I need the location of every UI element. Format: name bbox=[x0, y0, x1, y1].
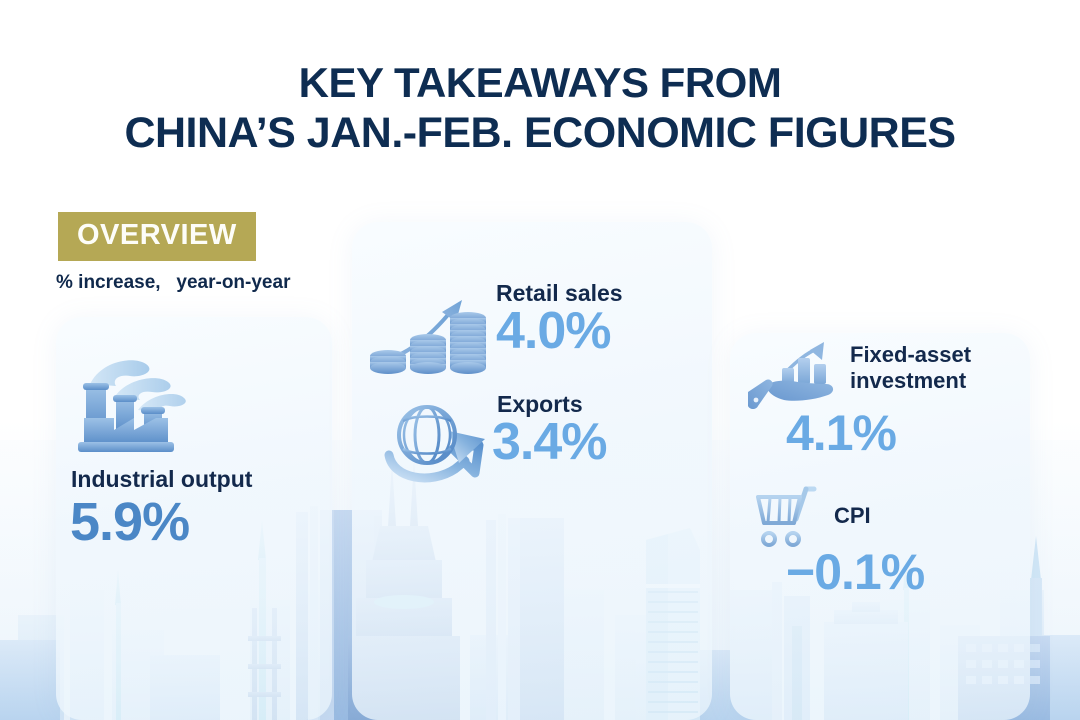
globe-arrow-icon bbox=[383, 397, 495, 489]
coins-growth-icon bbox=[366, 284, 492, 380]
stat-retail-sales: Retail sales 4.0% bbox=[366, 280, 696, 380]
stat-exports: Exports 3.4% bbox=[383, 391, 713, 489]
stat-value-cpi: −0.1% bbox=[786, 543, 1052, 601]
shopping-cart-icon bbox=[752, 485, 826, 547]
overview-subtitle: % increase, year-on-year bbox=[56, 272, 290, 294]
stat-fixed-asset-investment: Fixed-asset investment 4.1% bbox=[742, 338, 1042, 462]
hand-chart-icon bbox=[742, 340, 846, 412]
title-line-2: CHINA’S JAN.-FEB. ECONOMIC FIGURES bbox=[0, 108, 1080, 158]
stat-label-cpi: CPI bbox=[834, 503, 871, 529]
stat-value-retail-sales: 4.0% bbox=[496, 301, 623, 361]
page-title: KEY TAKEAWAYS FROM CHINA’S JAN.-FEB. ECO… bbox=[0, 58, 1080, 158]
overview-badge: OVERVIEW bbox=[58, 212, 256, 261]
infographic-canvas: KEY TAKEAWAYS FROM CHINA’S JAN.-FEB. ECO… bbox=[0, 0, 1080, 720]
stat-cpi: CPI −0.1% bbox=[752, 485, 1052, 601]
stat-value-industrial-output: 5.9% bbox=[70, 491, 334, 553]
stat-industrial-output: Industrial output 5.9% bbox=[64, 340, 334, 553]
stat-value-fixed-asset-investment: 4.1% bbox=[786, 404, 1042, 462]
stat-label-industrial-output: Industrial output bbox=[71, 466, 334, 493]
stat-label-fixed-asset-investment: Fixed-asset investment bbox=[850, 342, 971, 394]
factory-icon bbox=[72, 340, 192, 460]
stat-value-exports: 3.4% bbox=[492, 412, 607, 472]
title-line-1: KEY TAKEAWAYS FROM bbox=[0, 58, 1080, 108]
